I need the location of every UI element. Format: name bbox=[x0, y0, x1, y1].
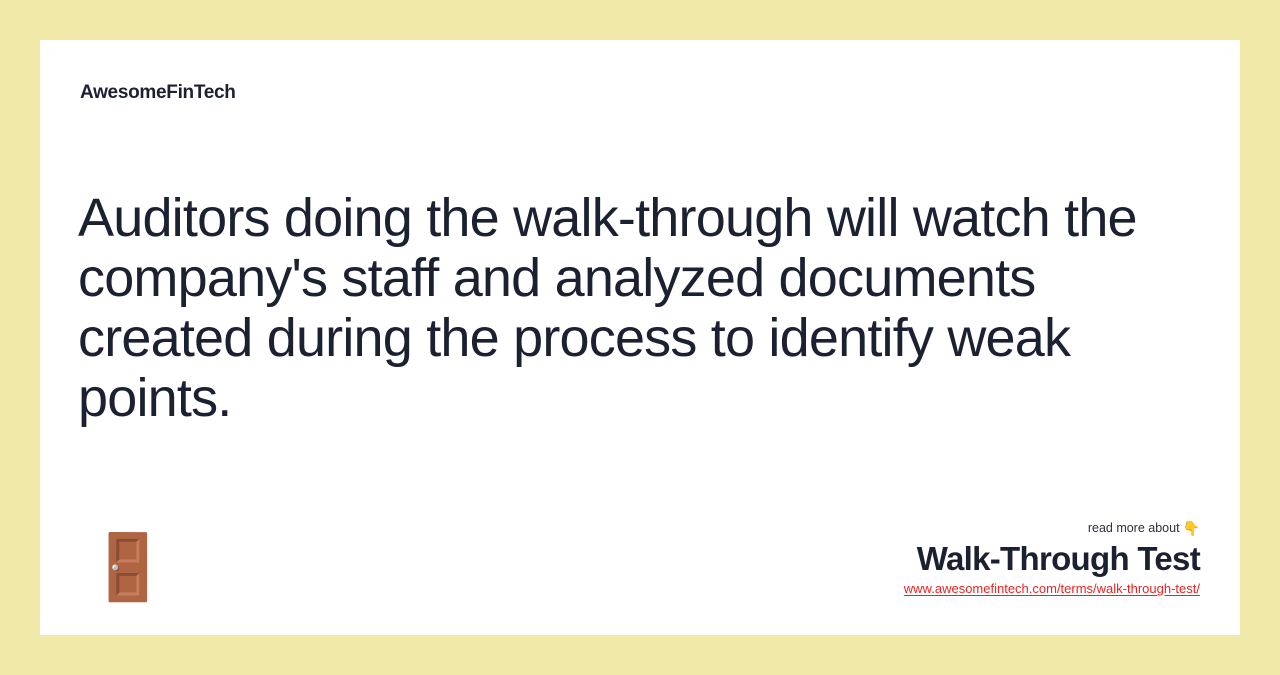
pointing-down-icon: 👇 bbox=[1183, 521, 1200, 537]
door-icon: 🚪 bbox=[88, 536, 168, 600]
card-footer: 🚪 read more about👇 Walk-Through Test www… bbox=[40, 475, 1240, 635]
term-block: read more about👇 Walk-Through Test www.a… bbox=[904, 522, 1200, 598]
slide-canvas: AwesomeFinTech Auditors doing the walk-t… bbox=[0, 0, 1280, 675]
content-card: AwesomeFinTech Auditors doing the walk-t… bbox=[40, 40, 1240, 635]
term-title: Walk-Through Test bbox=[904, 541, 1200, 578]
read-more-label: read more about👇 bbox=[904, 522, 1200, 537]
brand-logo[interactable]: AwesomeFinTech bbox=[80, 83, 236, 102]
headline-text: Auditors doing the walk-through will wat… bbox=[78, 188, 1158, 428]
term-url-link[interactable]: www.awesomefintech.com/terms/walk-throug… bbox=[904, 581, 1200, 596]
read-more-text: read more about bbox=[1088, 521, 1180, 535]
